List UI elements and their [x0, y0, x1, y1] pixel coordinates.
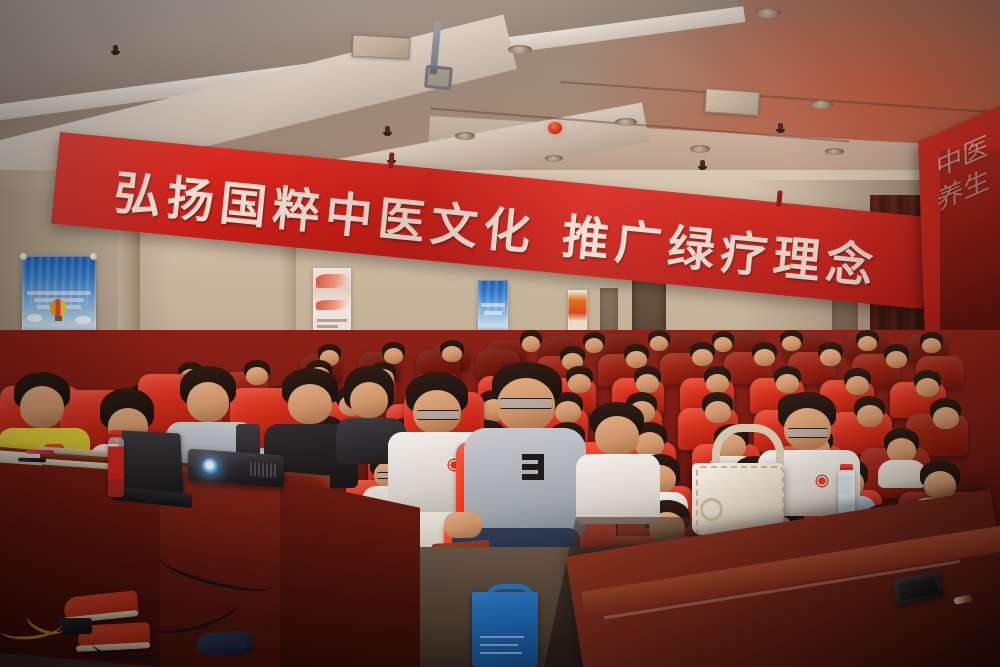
cola-bottle: [108, 437, 124, 497]
sprinkler-head-icon: [385, 126, 390, 135]
head: [555, 401, 581, 423]
recessed-downlight: [825, 148, 844, 155]
head: [933, 407, 959, 429]
blue-shopping-bag: [472, 592, 538, 667]
bag-text-line: [480, 652, 522, 654]
recessed-downlight: [755, 8, 781, 18]
head: [442, 346, 462, 362]
tee-logo-icon: [814, 474, 830, 488]
poster-cloud-graphic: [27, 314, 41, 322]
handbag-ring: [700, 498, 723, 521]
poster-text-line: [317, 325, 339, 328]
bag-text-line: [480, 636, 524, 638]
sprinkler-head-icon: [113, 45, 118, 54]
head: [692, 349, 713, 366]
bag-text-line: [480, 644, 518, 646]
recessed-downlight: [615, 118, 637, 126]
head: [820, 349, 841, 366]
torso: [576, 454, 660, 524]
head: [288, 384, 332, 424]
hot-air-balloon-icon: [50, 299, 66, 316]
poster-text-band: [484, 311, 502, 315]
poster-pin: [20, 253, 27, 260]
dark-shoe: [198, 638, 246, 656]
wooden-desk-panel: [280, 478, 420, 667]
poster-cloud-graphic: [75, 316, 91, 324]
poster-brush-graphic: [316, 274, 347, 288]
poster-text-band: [27, 291, 90, 295]
auditorium-photo: 弘扬国粹中医文化推广绿疗理念 中医养生: [0, 0, 1000, 667]
recessed-downlight: [508, 45, 532, 54]
glasses: [788, 428, 828, 438]
projector-mount-bracket: [424, 65, 453, 90]
head: [776, 374, 799, 393]
water-bottle-label: [838, 494, 855, 507]
torso: [878, 460, 926, 488]
head: [916, 378, 939, 397]
sprinkler-head-icon: [778, 123, 783, 132]
head: [650, 336, 668, 351]
head: [705, 401, 731, 423]
recessed-downlight: [455, 132, 475, 140]
air-vent: [351, 34, 410, 59]
poster-pin: [90, 253, 97, 260]
head: [857, 405, 883, 427]
hand: [444, 512, 482, 538]
laptop-screen[interactable]: [118, 430, 183, 496]
head: [246, 367, 268, 385]
pen: [26, 450, 54, 454]
projector[interactable]: [188, 449, 284, 488]
head: [595, 416, 639, 456]
head: [522, 336, 540, 352]
poster-orange: [568, 290, 587, 334]
recessed-downlight: [545, 155, 563, 162]
poster-red-white: [313, 268, 351, 338]
air-vent: [704, 88, 760, 116]
head: [20, 386, 64, 428]
head: [922, 338, 941, 353]
head: [846, 376, 869, 395]
head: [350, 382, 388, 418]
recessed-downlight: [690, 145, 710, 153]
glasses: [417, 410, 459, 420]
poster-sunburst-graphic: [479, 281, 507, 312]
recessed-downlight: [810, 100, 833, 109]
poster-text-line: [317, 319, 347, 322]
poster-balloon-basket: [55, 316, 62, 322]
head: [636, 374, 659, 393]
head: [714, 337, 732, 352]
poster-text-band: [481, 303, 506, 307]
sprinkler-head-icon: [700, 160, 705, 169]
projector-lens: [202, 458, 219, 476]
phone-screen: [898, 575, 939, 601]
head: [886, 351, 907, 368]
head: [706, 374, 729, 393]
poster-brush-graphic: [316, 300, 347, 310]
head: [782, 336, 801, 351]
head: [585, 338, 603, 353]
head: [754, 349, 775, 366]
glasses: [500, 398, 552, 409]
head: [858, 336, 877, 351]
polo-logo-icon: [522, 454, 544, 480]
projector-vent: [250, 462, 276, 478]
head: [568, 374, 591, 393]
torso: [464, 428, 586, 536]
head: [187, 382, 229, 422]
fire-alarm-light-icon: [548, 122, 562, 134]
